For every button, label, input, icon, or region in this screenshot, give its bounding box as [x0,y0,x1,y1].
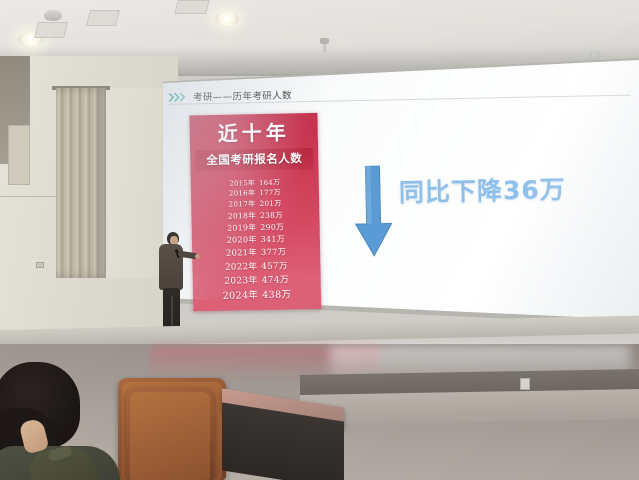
row-value: 201万 [260,199,282,209]
row-year: 2022年 [225,259,258,273]
list-item: 2016年177万 [229,188,281,199]
list-item: 2018年238万 [228,210,283,222]
row-value: 341万 [260,234,285,245]
callout-text: 同比下降36万 [399,170,566,209]
red-panel-subtitle: 全国考研报名人数 [195,148,313,171]
list-item: 2024年438万 [223,286,292,301]
list-item: 2015年164万 [229,177,280,188]
list-item: 2023年474万 [224,272,289,286]
wall-outlet [520,378,530,390]
presenter-leg-divide [171,296,173,330]
ceiling-light-icon [215,12,239,26]
presenter-hand [195,254,200,259]
row-value: 377万 [261,246,287,259]
row-year: 2017年 [229,199,256,210]
folding-partition-curtain [56,88,106,278]
list-item: 2019年290万 [227,222,284,234]
ceiling-vent [174,0,209,14]
statistics-red-panel: 近十年 全国考研报名人数 2015年164万 2016年177万 2017年20… [189,113,321,312]
row-year: 2020年 [227,234,257,246]
row-year: 2016年 [229,188,256,199]
audience-member [0,362,144,480]
list-item: 2022年457万 [225,259,288,273]
row-value: 238万 [260,210,283,221]
row-year: 2021年 [226,246,257,259]
slide-number: 13 [587,47,600,63]
ceiling-vent [86,10,120,26]
ceiling-vent [34,22,68,38]
row-value: 164万 [259,177,280,187]
list-item: 2020年341万 [227,234,286,246]
sprinkler-icon [320,38,329,44]
lecture-hall-photo: 13 考研——历年考研人数 近十年 全国考研报名人数 2015年164万 201… [0,0,639,480]
row-value: 290万 [260,222,284,233]
presentation-slide: 13 考研——历年考研人数 近十年 全国考研报名人数 2015年164万 201… [160,50,639,331]
row-year: 2015年 [229,177,255,188]
triple-chevron-right-icon [169,92,188,101]
row-year: 2019年 [227,222,256,234]
arrow-down-icon [352,165,394,263]
floor-far [300,389,639,425]
statistics-list: 2015年164万 2016年177万 2017年201万 2018年238万 … [220,176,291,301]
red-panel-title: 近十年 [218,122,290,143]
list-item: 2021年377万 [226,246,286,259]
row-value: 474万 [262,272,290,286]
wall-panel [8,125,30,185]
row-value: 438万 [262,286,291,301]
row-value: 177万 [259,188,281,198]
row-year: 2023年 [224,273,258,287]
list-item: 2017年201万 [229,199,282,210]
row-value: 457万 [261,259,288,273]
ceiling-speaker-icon [44,10,62,21]
wall-outlet [36,262,44,268]
row-year: 2018年 [228,210,256,222]
row-year: 2024年 [223,287,259,302]
